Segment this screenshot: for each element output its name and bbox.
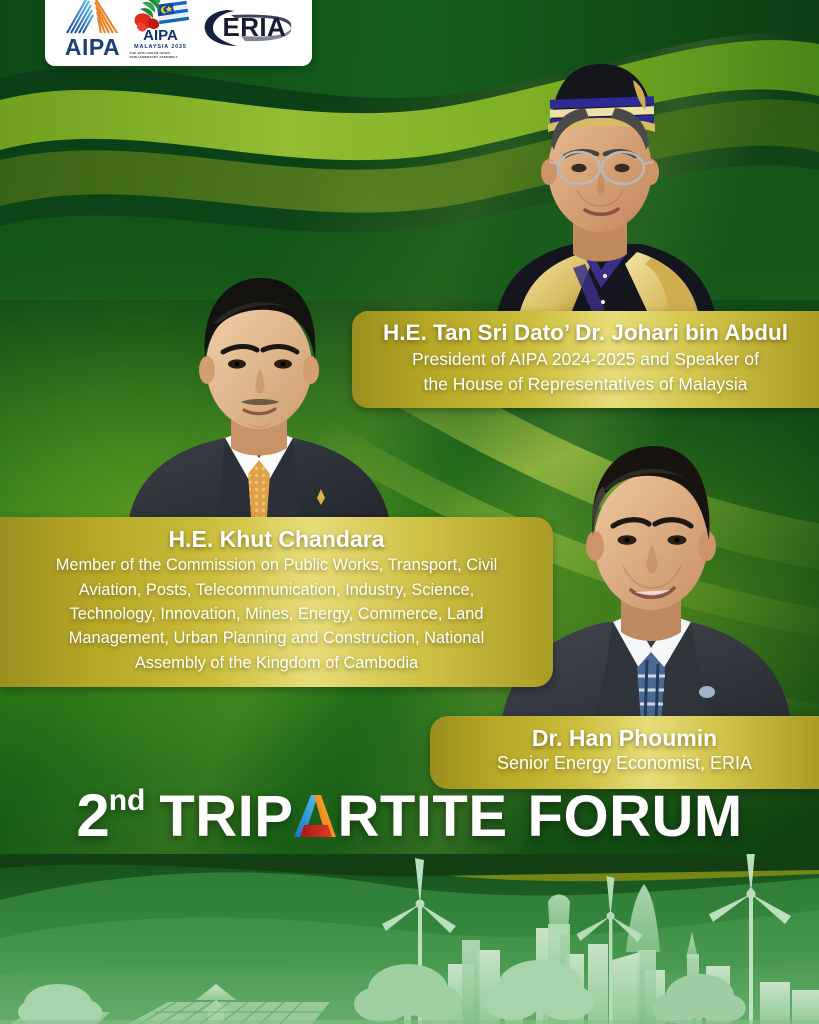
speaker-role-johari-line1: President of AIPA 2024-2025 and Speaker … [366,348,805,371]
aipa-logo: AIPA [65,0,121,59]
scenery-illustration [0,854,819,1024]
event-title: 2 nd TRIP [0,786,819,846]
title-word-forum: FORUM [528,788,743,846]
title-word-tripartite: TRIP [159,788,742,846]
eria-logo: ERIA [201,6,293,48]
portrait-johari [455,58,745,328]
eria-logo-wordmark: ERIA [223,12,287,43]
partner-logo-card: AIPA [45,0,312,66]
speaker-role-chandara-line1: Member of the Commission on Public Works… [18,555,535,576]
title-tripartite-prefix: TRIP [159,788,293,846]
speaker-role-johari-line2: the House of Representatives of Malaysia [366,373,805,396]
speaker-role-chandara-line4: Management, Urban Planning and Construct… [18,628,535,649]
aipa-mark-icon [65,0,121,35]
aipa-malaysia-wordmark: AIPA [143,28,178,43]
speaker-name-phoumin: Dr. Han Phoumin [446,725,803,751]
speaker-banner-chandara: H.E. Khut Chandara Member of the Commiss… [0,517,553,687]
poster-canvas: AIPA [0,0,819,1024]
speaker-name-chandara: H.E. Khut Chandara [18,526,535,552]
speaker-role-chandara-line2: Aviation, Posts, Telecommunication, Indu… [18,580,535,601]
aipa-malaysia-subtitle: MALAYSIA 2025 [134,44,187,51]
title-stylised-a-icon [294,793,336,837]
speaker-banner-phoumin: Dr. Han Phoumin Senior Energy Economist,… [430,716,819,789]
aipa-logo-wordmark: AIPA [65,36,120,59]
speaker-role-chandara-line5: Assembly of the Kingdom of Cambodia [18,653,535,674]
speaker-banner-johari: H.E. Tan Sri Dato’ Dr. Johari bin Abdul … [352,311,819,408]
title-tripartite-suffix: RTITE [337,788,507,846]
aipa-malaysia-caption: THE 46TH ASEAN INTER-PARLIAMENTARY ASSEM… [130,51,192,59]
title-ordinal: nd [109,784,146,818]
aipa-malaysia-2025-logo: AIPA MALAYSIA 2025 THE 46TH ASEAN INTER-… [130,0,192,59]
speaker-role-phoumin-line1: Senior Energy Economist, ERIA [446,752,803,775]
speaker-role-chandara-line3: Technology, Innovation, Mines, Energy, C… [18,604,535,625]
speaker-name-johari: H.E. Tan Sri Dato’ Dr. Johari bin Abdul [366,320,805,346]
title-number: 2 [76,786,108,846]
